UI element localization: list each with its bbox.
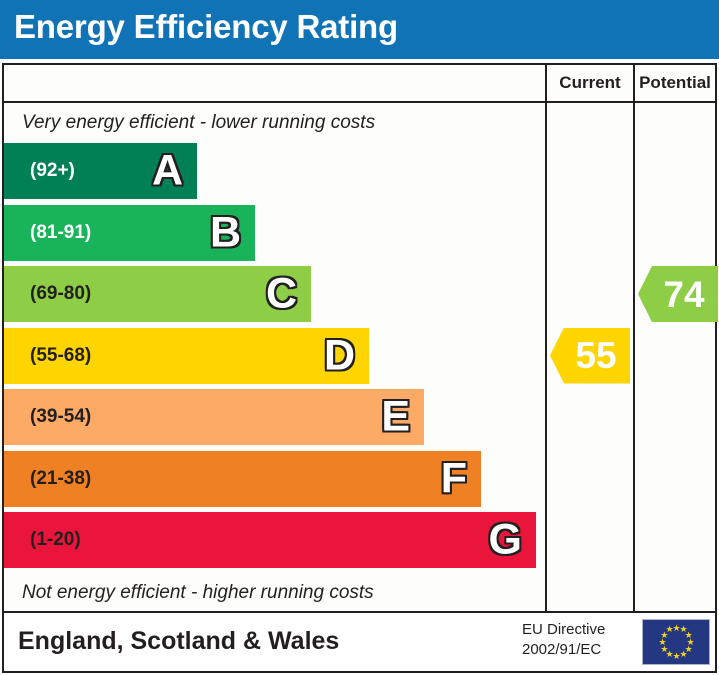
band-letter-c: C	[266, 273, 297, 316]
eu-flag-star: ★	[659, 639, 666, 646]
band-row-e: (39-54)E	[4, 389, 424, 445]
band-range-g: (1-20)	[30, 512, 81, 568]
rating-table: Current Potential Very energy efficient …	[2, 63, 717, 613]
band-list: (92+)A(81-91)B(69-80)C(55-68)D(39-54)E(2…	[4, 143, 545, 573]
potential-rating-value: 74	[651, 276, 704, 313]
caption-bottom: Not energy efficient - higher running co…	[4, 573, 545, 613]
eu-flag-icon: ★★★★★★★★★★★★	[642, 619, 710, 665]
footer-region-label: England, Scotland & Wales	[18, 613, 339, 669]
caption-top: Very energy efficient - lower running co…	[4, 103, 545, 143]
current-rating-value: 55	[563, 337, 616, 374]
page-title: Energy Efficiency Rating	[14, 8, 398, 46]
current-rating-pointer: 55	[550, 328, 630, 384]
column-divider-potential	[633, 103, 635, 611]
chart-title-bar: Energy Efficiency Rating	[0, 0, 719, 59]
footer-directive-line2: 2002/91/EC	[522, 640, 632, 660]
band-letter-f: F	[441, 457, 467, 500]
chart-footer: England, Scotland & Wales EU Directive 2…	[2, 613, 717, 673]
band-row-d: (55-68)D	[4, 328, 369, 384]
eu-flag-star: ★	[660, 646, 667, 653]
footer-directive-line1: EU Directive	[522, 620, 632, 640]
energy-efficiency-rating-chart: Energy Efficiency Rating Current Potenti…	[0, 0, 719, 675]
column-divider-current	[545, 103, 547, 611]
band-row-f: (21-38)F	[4, 451, 481, 507]
band-row-g: (1-20)G	[4, 512, 536, 568]
column-header-potential: Potential	[633, 65, 715, 101]
band-letter-g: G	[489, 519, 522, 562]
column-header-current: Current	[545, 65, 633, 101]
band-range-d: (55-68)	[30, 328, 91, 384]
band-letter-a: A	[152, 150, 183, 193]
potential-rating-pointer: 74	[638, 266, 718, 322]
band-range-b: (81-91)	[30, 205, 91, 261]
band-letter-e: E	[381, 396, 410, 439]
band-letter-d: D	[324, 334, 355, 377]
column-header-row: Current Potential	[4, 65, 715, 103]
footer-eu-directive: EU Directive 2002/91/EC	[522, 620, 632, 660]
band-row-a: (92+)A	[4, 143, 197, 199]
band-row-c: (69-80)C	[4, 266, 311, 322]
band-range-f: (21-38)	[30, 451, 91, 507]
band-letter-b: B	[210, 211, 241, 254]
band-range-a: (92+)	[30, 143, 75, 199]
band-range-c: (69-80)	[30, 266, 91, 322]
band-row-b: (81-91)B	[4, 205, 255, 261]
eu-flag-star: ★	[666, 626, 673, 633]
band-range-e: (39-54)	[30, 389, 91, 445]
